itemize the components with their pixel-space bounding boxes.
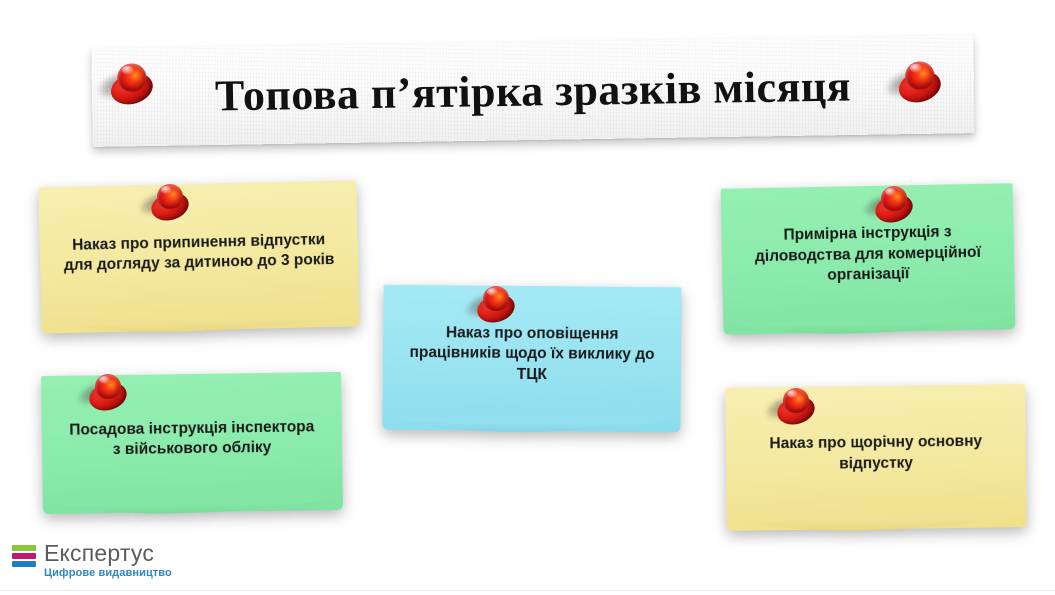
note-curl (43, 489, 343, 515)
logo-bar (12, 553, 36, 559)
expertus-bars-icon (12, 545, 36, 567)
sticky-note[interactable]: Наказ про припинення відпустки для догля… (38, 180, 359, 333)
note-curl (723, 308, 1015, 336)
note-curl (382, 409, 680, 434)
sticky-note[interactable]: Наказ про щорічну основну відпустку (725, 384, 1027, 531)
footer-divider (0, 590, 1055, 591)
sticky-note-text: Наказ про щорічну основну відпустку (748, 431, 1004, 475)
brand-logo: Експертус Цифрове видавництво (12, 541, 172, 579)
sticky-note[interactable]: Посадова інструкція інспектора з військо… (41, 372, 343, 514)
sticky-note[interactable]: Примірна інструкція з діловодства для ко… (721, 183, 1016, 335)
note-curl (727, 506, 1027, 532)
sticky-note[interactable]: Наказ про оповіщення працівників щодо їх… (382, 285, 681, 433)
page-title: Топова п’ятірка зразків місяця (92, 59, 975, 124)
logo-bar (12, 545, 36, 551)
logo-bar (12, 561, 36, 567)
brand-name: Експертус (44, 541, 172, 565)
note-curl (41, 305, 359, 334)
title-banner: Топова п’ятірка зразків місяця (91, 35, 974, 147)
brand-text: Експертус Цифрове видавництво (44, 541, 172, 579)
sticky-note-text: Наказ про оповіщення працівників щодо їх… (405, 323, 660, 387)
sticky-note-text: Примірна інструкція з діловодства для ко… (743, 222, 992, 288)
brand-tagline: Цифрове видавництво (44, 567, 172, 579)
sticky-note-text: Посадова інструкція інспектора з військо… (64, 417, 321, 461)
sticky-note-text: Наказ про припинення відпустки для догля… (61, 229, 336, 276)
slide-canvas: Топова п’ятірка зразків місяця Наказ про… (0, 0, 1055, 595)
